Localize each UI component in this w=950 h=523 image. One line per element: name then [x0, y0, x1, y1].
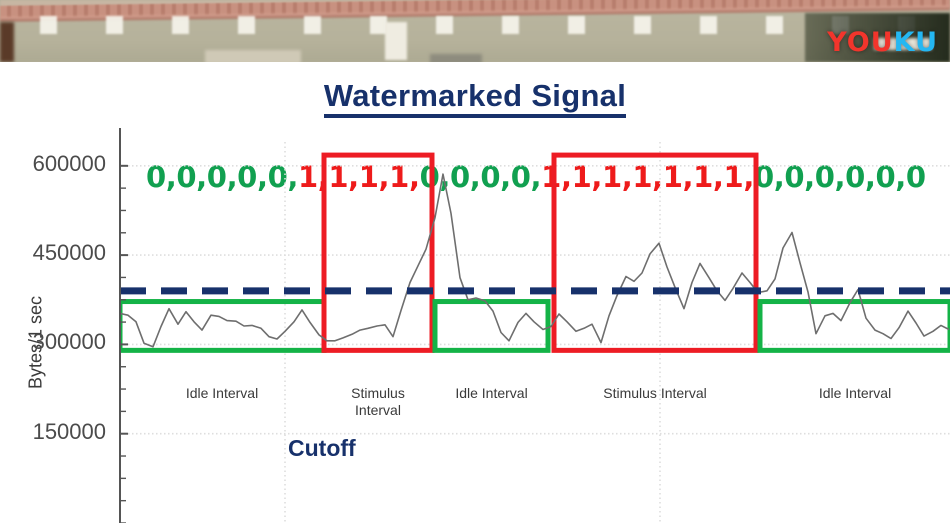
wall-window-right — [430, 54, 482, 62]
x-interval-label-0: Idle Interval — [152, 385, 292, 402]
interval-box-stimulus-3 — [554, 155, 756, 350]
wall-post — [385, 22, 407, 60]
x-interval-label-4: Idle Interval — [785, 385, 925, 402]
y-tick-label-300000: 300000 — [20, 329, 106, 355]
youku-watermark-logo: YOUKU — [827, 27, 938, 58]
interval-box-stimulus-1 — [324, 155, 432, 350]
interval-box-idle-0 — [120, 302, 324, 351]
interval-box-idle-4 — [760, 302, 950, 351]
wall-shadow-left — [0, 22, 14, 62]
x-interval-label-3: Stimulus Interval — [585, 385, 725, 402]
y-tick-label-450000: 450000 — [20, 240, 106, 266]
plot-area: Cutoff Idle IntervalStimulus IntervalIdl… — [120, 142, 950, 523]
y-tick-label-150000: 150000 — [20, 419, 106, 445]
cutoff-label: Cutoff — [288, 435, 356, 462]
slide-surface: Watermarked Signal 0,0,0,0,0,1,1,1,1,0,0… — [0, 62, 950, 523]
x-interval-label-1: Stimulus Interval — [333, 385, 423, 419]
y-axis — [112, 142, 128, 523]
video-frame-band: YOUKU — [0, 0, 950, 62]
youku-logo-red-text: YOU — [827, 27, 893, 58]
youku-logo-blue-text: KU — [894, 27, 938, 58]
signal-trace — [120, 174, 949, 347]
y-tick-label-600000: 600000 — [20, 151, 106, 177]
plot-svg — [120, 142, 950, 523]
x-interval-label-2: Idle Interval — [422, 385, 562, 402]
signal-chart: Bytes/1 sec 600000450000300000150000 Cut… — [0, 62, 950, 523]
wall-window-left — [205, 50, 301, 62]
